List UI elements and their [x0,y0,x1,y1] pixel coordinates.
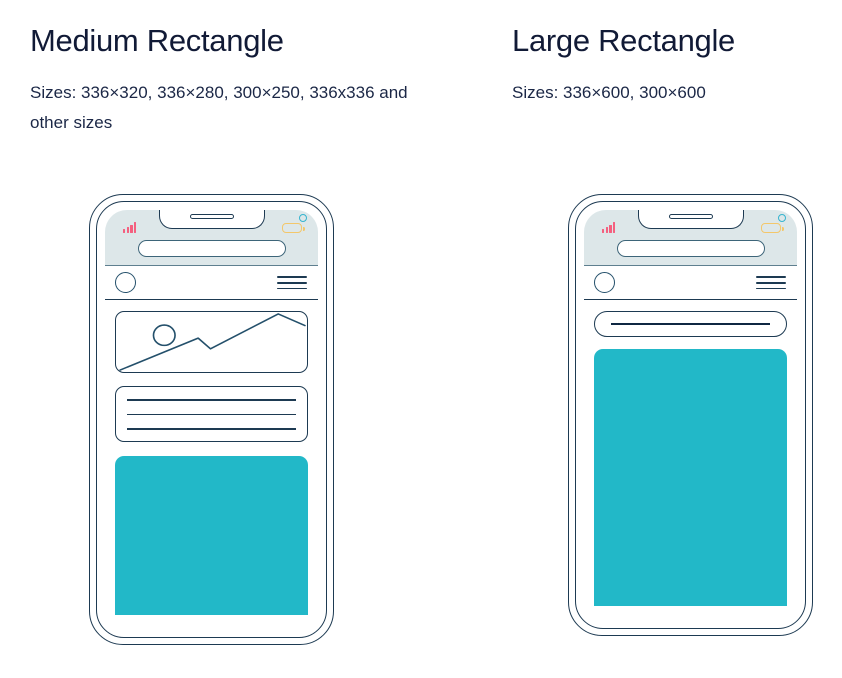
front-camera-icon [299,214,307,222]
status-bar [584,210,797,266]
hamburger-menu-icon[interactable] [277,276,307,289]
phone-bezel [96,201,327,638]
front-camera-icon [778,214,786,222]
page-title-large-rectangle: Large Rectangle [512,0,842,61]
column-large-rectangle: Large Rectangle Sizes: 336×600, 300×600 [512,0,842,108]
phone-chin [576,606,805,628]
phone-mockup-large-rectangle [568,194,813,636]
page-content [105,300,318,615]
text-placeholder-lines [127,399,296,430]
earpiece-speaker-icon [190,214,234,219]
phone-chin [97,615,326,637]
phone-mockup-medium-rectangle [89,194,334,645]
image-placeholder [115,311,308,373]
signal-bars-icon [123,222,136,233]
page-content [584,300,797,606]
sizes-description-medium-rectangle: Sizes: 336×320, 336×280, 300×250, 336x33… [30,61,450,138]
avatar-circle-icon[interactable] [594,272,615,293]
text-placeholder-line [611,323,770,325]
status-bar [105,210,318,266]
ad-format-comparison-page: Medium Rectangle Sizes: 336×320, 336×280… [0,0,842,678]
ad-slot-medium-rectangle[interactable] [115,456,308,615]
browser-address-bar[interactable] [138,240,286,257]
avatar-circle-icon[interactable] [115,272,136,293]
sizes-description-large-rectangle: Sizes: 336×600, 300×600 [512,61,842,108]
text-placeholder [594,311,787,337]
phone-screen [584,210,797,606]
battery-icon [282,223,302,233]
ad-slot-large-rectangle[interactable] [594,349,787,606]
hamburger-menu-icon[interactable] [756,276,786,289]
earpiece-speaker-icon [669,214,713,219]
phone-bezel [575,201,806,629]
phone-notch [159,210,265,229]
site-nav-bar [584,266,797,300]
column-medium-rectangle: Medium Rectangle Sizes: 336×320, 336×280… [30,0,470,138]
signal-bars-icon [602,222,615,233]
page-title-medium-rectangle: Medium Rectangle [30,0,470,61]
phone-notch [638,210,744,229]
phone-screen [105,210,318,615]
browser-address-bar[interactable] [617,240,765,257]
text-placeholder [115,386,308,442]
battery-icon [761,223,781,233]
site-nav-bar [105,266,318,300]
